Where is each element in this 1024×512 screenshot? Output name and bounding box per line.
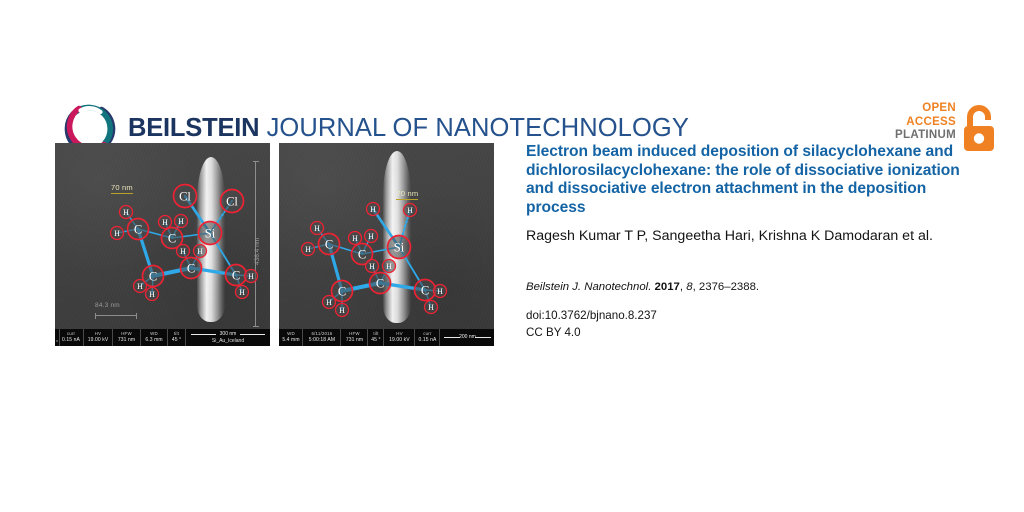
infobar-tick: ^ <box>55 329 60 346</box>
article-citation: Beilstein J. Nanotechnol. 2017, 8, 2376–… <box>526 279 986 295</box>
article-license: CC BY 4.0 <box>526 324 986 342</box>
infobar-cells: curr 0.15 nA HV 19.00 kV HFW 731 nm WD 6… <box>59 329 186 346</box>
sem-infobar: WD 5.4 mm 6/11/2016 5:00:18 AM HFW 731 n… <box>279 329 494 346</box>
infobar-value: 5.4 mm <box>282 337 299 344</box>
infobar-cell: tilt 45 ° <box>168 329 186 346</box>
scale-marker-70nm: 70 nm <box>396 189 418 200</box>
infobar-cell: HV 19.00 kV <box>84 329 113 346</box>
scalebar-label: 300 nm <box>220 331 237 338</box>
infobar-value: 0.15 nA <box>418 337 436 344</box>
infobar-cell: HV 19.00 kV <box>384 329 415 346</box>
infobar-cell: tilt 45 ° <box>368 329 384 346</box>
sample-label: Si_Au_Iceland <box>212 338 244 345</box>
infobar-value: 0.15 nA <box>62 337 80 344</box>
infobar-cell: HFW 731 nm <box>341 329 368 346</box>
scalebar-label: 200 nm <box>459 334 476 341</box>
infobar-value: 6.3 mm <box>145 337 162 344</box>
brand-bold: BEILSTEIN <box>128 114 259 142</box>
oa-line-access: ACCESS <box>886 116 956 130</box>
infobar-value: 5:00:18 AM <box>309 337 335 344</box>
brand-light: JOURNAL OF NANOTECHNOLOGY <box>259 114 689 142</box>
journal-title: BEILSTEIN JOURNAL OF NANOTECHNOLOGY <box>128 114 689 143</box>
nanopillar-highlight <box>200 165 218 315</box>
infobar-cells: WD 5.4 mm 6/11/2016 5:00:18 AM HFW 731 n… <box>279 329 440 346</box>
infobar-value: 731 nm <box>346 337 363 344</box>
infobar-cell: curr 0.15 nA <box>59 329 84 346</box>
measurement-vertical-label: 436.4 nm <box>254 238 261 265</box>
journal-header: BEILSTEIN JOURNAL OF NANOTECHNOLOGY OPEN… <box>0 44 1024 120</box>
citation-volume: 8 <box>686 281 692 293</box>
infobar-cell: WD 6.3 mm <box>141 329 168 346</box>
article-doi[interactable]: doi:10.3762/bjnano.8.237 <box>526 307 986 325</box>
citation-pages: 2376–2388. <box>699 281 759 293</box>
infobar-scalebar: 300 nm Si_Au_Iceland <box>186 329 270 346</box>
sem-image-dichlorosilacyclohexane[interactable]: 436.4 nm 84.3 nm 70 nm SiClClCCCCCHHHHHH… <box>55 143 270 346</box>
measurement-horizontal-line <box>95 315 137 316</box>
infobar-value: 19.00 kV <box>389 337 410 344</box>
article-title: Electron beam induced deposition of sila… <box>526 143 986 217</box>
sem-image-silacyclohexane[interactable]: 70 nm SiHHCCCCCHHHHHHHHHH WD 5.4 mm 6/11… <box>279 143 494 346</box>
scalebar-line: 300 nm <box>191 331 265 338</box>
sem-infobar: ^ curr 0.15 nA HV 19.00 kV HFW 731 nm <box>55 329 270 346</box>
sem-noise-texture <box>55 143 270 346</box>
article-authors: Ragesh Kumar T P, Sangeetha Hari, Krishn… <box>526 226 986 248</box>
measurement-horizontal-label: 84.3 nm <box>95 302 120 309</box>
figure-panel-group: 436.4 nm 84.3 nm 70 nm SiClClCCCCCHHHHHH… <box>55 143 494 346</box>
infobar-cell: WD 5.4 mm <box>279 329 303 346</box>
citation-year: 2017 <box>655 281 680 293</box>
article-cover-page: BEILSTEIN JOURNAL OF NANOTECHNOLOGY OPEN… <box>0 0 1024 512</box>
oa-line-open: OPEN <box>886 102 956 116</box>
oa-line-platinum: PLATINUM <box>886 129 956 143</box>
infobar-scalebar: 200 nm <box>440 329 494 346</box>
infobar-value: 45 ° <box>172 337 181 344</box>
infobar-cell: curr 0.15 nA <box>415 329 440 346</box>
citation-journal: Beilstein J. Nanotechnol. <box>526 281 651 293</box>
infobar-cell: HFW 731 nm <box>113 329 141 346</box>
infobar-cell: 6/11/2016 5:00:18 AM <box>303 329 341 346</box>
scalebar-line: 200 nm <box>444 334 492 341</box>
infobar-value: 19.00 kV <box>88 337 109 344</box>
infobar-value: 731 nm <box>118 337 135 344</box>
article-metadata: Electron beam induced deposition of sila… <box>526 143 986 342</box>
scale-marker-70nm: 70 nm <box>111 183 133 194</box>
infobar-value: 45 ° <box>371 337 380 344</box>
open-access-label: OPEN ACCESS PLATINUM <box>886 102 956 143</box>
